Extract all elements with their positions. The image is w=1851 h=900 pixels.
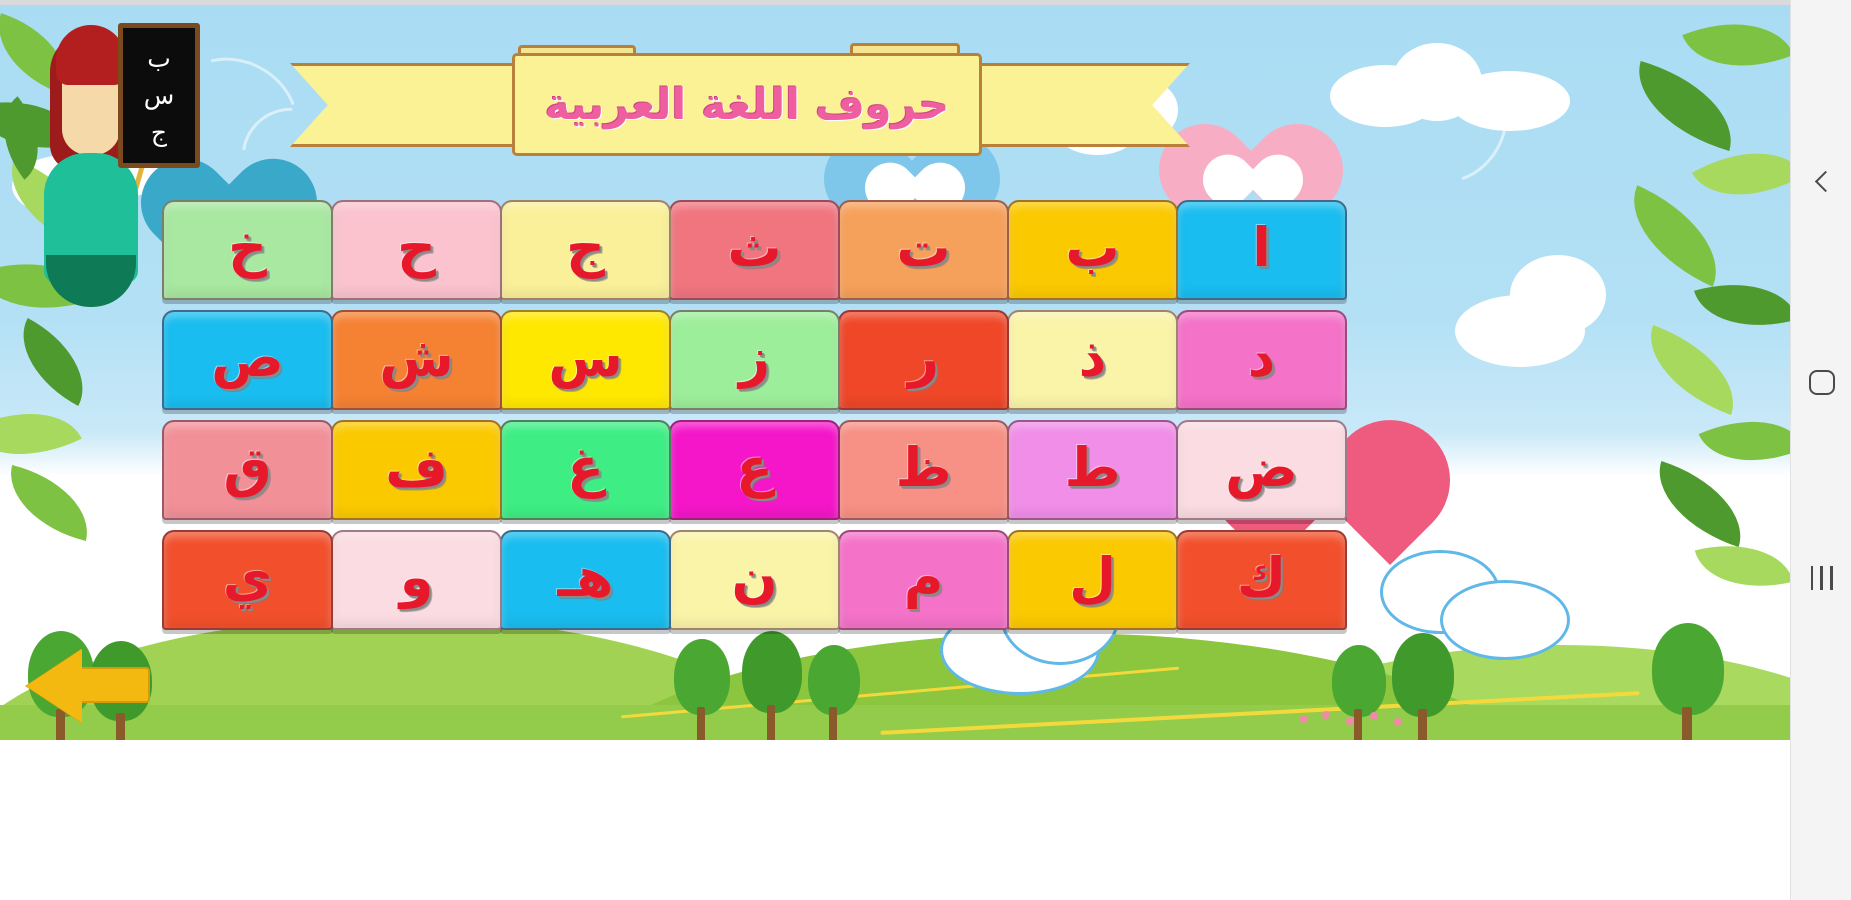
letter-tile-ha[interactable]: ح [331, 200, 502, 300]
letter-glyph: و [400, 551, 434, 605]
letter-glyph: ز [739, 331, 770, 385]
letter-tile-kha[interactable]: خ [162, 200, 333, 300]
letter-glyph: ط [1064, 441, 1120, 495]
letter-glyph: ح [397, 221, 436, 275]
letter-glyph: ظ [895, 441, 951, 495]
letter-row-1: ا ب ت ث ج ح خ [147, 200, 1347, 300]
leaf-r9 [1695, 529, 1790, 603]
letter-tile-ghayn[interactable]: غ [500, 420, 671, 520]
letter-glyph: ض [1225, 441, 1298, 495]
leaf-l5 [2, 318, 103, 406]
leaf-r4 [1612, 185, 1738, 286]
tree-5 [806, 645, 864, 742]
nav-recents-button[interactable] [1791, 550, 1851, 606]
home-icon [1809, 370, 1835, 395]
letter-tile-waw[interactable]: و [331, 530, 502, 630]
pink-dots [1300, 711, 1420, 729]
letter-tile-zay[interactable]: ز [669, 310, 840, 410]
letter-glyph: خ [228, 221, 267, 275]
back-arrow-shaft [78, 667, 150, 703]
title-banner: حروف اللغة العربية [290, 31, 1190, 156]
letter-tile-nun[interactable]: ن [669, 530, 840, 630]
letter-glyph: ق [223, 441, 271, 495]
letter-tile-ba[interactable]: ب [1007, 200, 1178, 300]
letter-glyph: ن [731, 551, 777, 605]
blackboard-letter-3: ج [151, 120, 167, 145]
leaf-r2 [1624, 61, 1747, 151]
letter-tile-thal[interactable]: ذ [1007, 310, 1178, 410]
game-stage: [data-name="heart-blue"]:before,[data-na… [0, 5, 1790, 742]
letter-glyph: م [904, 551, 944, 605]
letter-glyph: ش [379, 331, 454, 385]
teacher-shirt-shadow [46, 255, 136, 307]
leaf-r8 [1643, 461, 1756, 547]
leaf-r6 [1633, 325, 1751, 415]
leaf-l7 [0, 465, 99, 541]
nav-back-button[interactable] [1791, 155, 1851, 211]
chevron-left-icon [1814, 170, 1830, 196]
tree-8 [1648, 623, 1728, 742]
letter-glyph: ف [385, 441, 448, 495]
letter-tile-haa[interactable]: هـ [500, 530, 671, 630]
leaf-r7 [1699, 397, 1790, 486]
app-root: [data-name="heart-blue"]:before,[data-na… [0, 0, 1851, 900]
letter-tile-zaa[interactable]: ظ [838, 420, 1009, 520]
letter-glyph: ب [1065, 221, 1119, 275]
letter-tile-shin[interactable]: ش [331, 310, 502, 410]
letter-tile-sin[interactable]: س [500, 310, 671, 410]
recents-icon [1811, 566, 1833, 590]
letter-glyph: ي [223, 551, 273, 605]
letter-row-2: د ذ ر ز س ش ص [147, 310, 1347, 410]
letter-tile-ayn[interactable]: ع [669, 420, 840, 520]
letter-glyph: غ [567, 441, 604, 495]
banner-center-panel: حروف اللغة العربية [512, 53, 982, 156]
grass-strip [0, 705, 1790, 742]
letter-glyph: ل [1069, 551, 1116, 605]
letter-row-4: ك ل م ن هـ و ي [147, 530, 1347, 630]
letter-tile-sad[interactable]: ص [162, 310, 333, 410]
letter-glyph: ع [736, 441, 773, 495]
letter-tile-alef[interactable]: ا [1176, 200, 1347, 300]
letter-tile-ya[interactable]: ي [162, 530, 333, 630]
back-arrow-head [26, 649, 82, 723]
alphabet-grid: ا ب ت ث ج ح خ د ذ ر ز س ش ص ض ط ظ [147, 200, 1347, 634]
letter-glyph: ث [727, 221, 781, 275]
letter-tile-dad[interactable]: ض [1176, 420, 1347, 520]
nav-home-button[interactable] [1791, 354, 1851, 410]
letter-tile-kaf[interactable]: ك [1176, 530, 1347, 630]
letter-glyph: ج [566, 221, 605, 275]
blackboard: ب س ج [118, 23, 200, 168]
letter-tile-mim[interactable]: م [838, 530, 1009, 630]
letter-tile-ra[interactable]: ر [838, 310, 1009, 410]
device-bezel-bottom [0, 740, 1790, 900]
letter-tile-dal[interactable]: د [1176, 310, 1347, 410]
letter-glyph: ك [1237, 551, 1287, 605]
letter-glyph: س [548, 331, 623, 385]
letter-glyph: ص [211, 331, 284, 385]
letter-glyph: ذ [1079, 331, 1107, 385]
letter-tile-qaf[interactable]: ق [162, 420, 333, 520]
letter-glyph: ت [896, 221, 950, 275]
outline-cloud-4 [1440, 580, 1570, 660]
letter-glyph: ر [908, 331, 939, 385]
blackboard-letter-2: س [144, 83, 175, 108]
tree-4 [740, 631, 806, 742]
page-title: حروف اللغة العربية [545, 80, 950, 130]
letter-row-3: ض ط ظ ع غ ف ق [147, 420, 1347, 520]
teacher-hair-top [56, 25, 126, 85]
cloud-9 [1510, 255, 1606, 335]
letter-tile-tha[interactable]: ث [669, 200, 840, 300]
android-navigation-bar [1790, 0, 1851, 900]
letter-tile-taa[interactable]: ط [1007, 420, 1178, 520]
letter-tile-jim[interactable]: ج [500, 200, 671, 300]
letter-tile-ta[interactable]: ت [838, 200, 1009, 300]
letter-glyph: هـ [558, 551, 614, 605]
letter-tile-fa[interactable]: ف [331, 420, 502, 520]
cloud-3 [1450, 71, 1570, 131]
letter-tile-lam[interactable]: ل [1007, 530, 1178, 630]
tree-3 [672, 639, 734, 742]
blackboard-letter-1: ب [147, 46, 171, 71]
leaf-r1 [1682, 5, 1790, 91]
back-arrow-button[interactable] [26, 649, 150, 723]
letter-glyph: د [1248, 331, 1276, 385]
letter-glyph: ا [1252, 221, 1271, 275]
